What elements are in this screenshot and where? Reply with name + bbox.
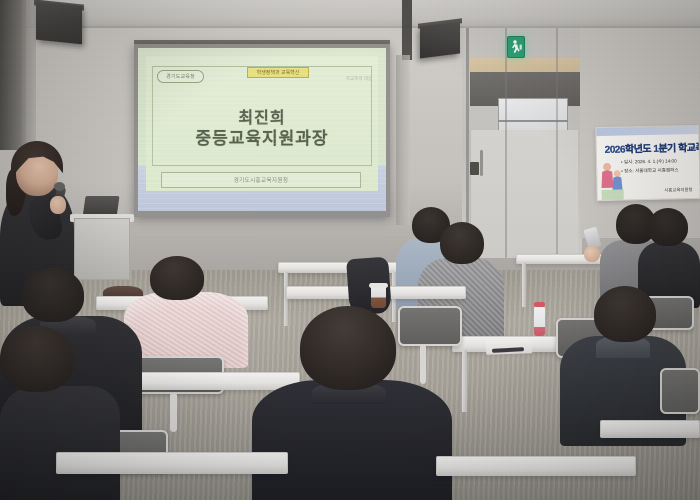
slide-org-badge: 경기도교육청 (157, 70, 204, 83)
attendee-head (0, 326, 74, 392)
coffee-cup-lid (369, 283, 388, 288)
attendee-body (0, 386, 120, 500)
attendee-head (648, 208, 688, 246)
chair-post (420, 344, 426, 384)
banner-date-line: • 일시: 2026. 4. 1.(수) 14:00 (621, 158, 677, 165)
coffee-cup (371, 286, 386, 308)
banner-title: 2026학년도 1분기 학교폭력 (605, 139, 700, 156)
slide-presenter-title: 중등교육지원과장 (152, 124, 372, 149)
slide-corner-note: 학교폭력 대응 (330, 76, 372, 84)
glass-mullion (505, 28, 507, 258)
dark-wall-frame (402, 0, 412, 60)
seminar-room-photo: 2026학년도 1분기 학교폭력 • 일시: 2026. 4. 1.(수) 14… (0, 0, 700, 500)
emergency-exit-icon (507, 36, 525, 58)
glass-header-panel (470, 58, 580, 72)
lectern (74, 218, 130, 280)
chair-post (170, 392, 177, 432)
attendee-hand (584, 246, 600, 262)
microphone-head (54, 182, 65, 191)
desk (56, 452, 288, 474)
wall-frame-secondary (396, 55, 410, 225)
event-banner: 2026학년도 1분기 학교폭력 • 일시: 2026. 4. 1.(수) 14… (595, 125, 700, 201)
desk (600, 420, 700, 438)
slide-footer-box: 경기도시흥교육지원청 (161, 172, 361, 188)
desk-leg (462, 350, 467, 412)
water-bottle-cap (534, 302, 545, 307)
desk-leg (522, 263, 526, 307)
desk-leg (284, 272, 288, 326)
foreground-attendee-head (300, 306, 396, 390)
banner-logo-label: 시흥교육지원청 (664, 187, 692, 194)
water-bottle (534, 306, 545, 336)
ceiling-speaker-right (420, 22, 460, 59)
slide-footer-label: 경기도시흥교육지원청 (234, 176, 289, 184)
banner-top-stripe (596, 126, 698, 136)
attendee-head (22, 268, 84, 322)
chair-backrest[interactable] (660, 368, 700, 414)
ceiling-speaker-left (36, 2, 82, 45)
attendee-head (594, 286, 656, 342)
attendee-head (150, 256, 204, 300)
desk (436, 456, 636, 476)
door-handle[interactable] (480, 150, 483, 176)
chair-backrest[interactable] (398, 306, 462, 346)
wall-switch-plate[interactable] (470, 162, 479, 175)
banner-location-line: • 장소: 서울대학교 시흥캠퍼스 (621, 167, 679, 174)
attendee-head (440, 222, 484, 264)
glass-mullion (556, 28, 558, 258)
presenter-hand (50, 196, 66, 214)
slide-highlight-tag: 학생정책과 교육혁신 (247, 67, 309, 78)
frosted-glass-panel (470, 130, 578, 258)
